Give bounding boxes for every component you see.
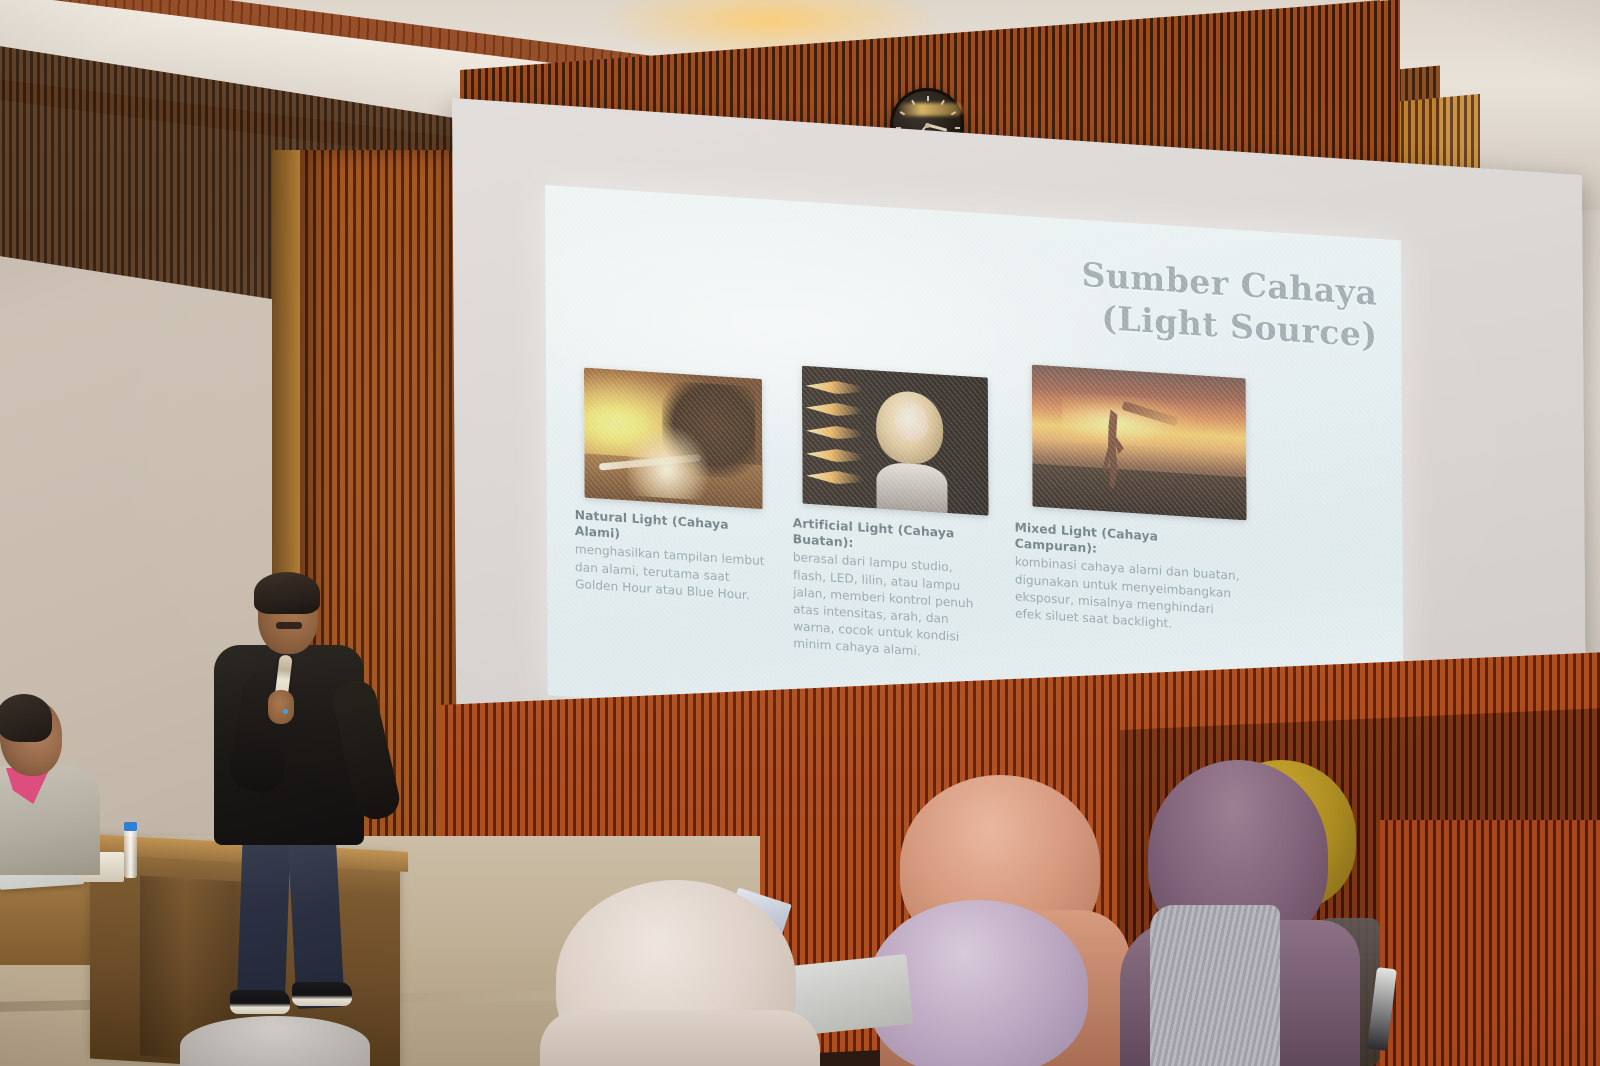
presenter-hair [254,572,320,614]
lecture-hall-photo: Sumber Cahaya (Light Source) Natural Lig… [0,0,1600,1066]
water-bottle [124,828,137,878]
projected-slide: Sumber Cahaya (Light Source) Natural Lig… [545,185,1404,751]
slide-title: Sumber Cahaya (Light Source) [1081,254,1377,358]
column-body: menghasilkan tampilan lembut dan alami, … [575,541,771,605]
column-mixed-light: Mixed Light (Cahaya Campuran): kombinasi… [1015,519,1244,637]
clock-glare [899,103,963,116]
clock-center [925,123,930,128]
mixed-light-photo [1032,364,1247,520]
right-slat-wall [1380,820,1600,1066]
column-natural-light: Natural Light (Cahaya Alami) menghasilka… [575,507,771,606]
presenter-mustache [276,622,302,629]
attendee-cream-body [540,1010,820,1066]
column-body: berasal dari lampu studio, flash, LED, l… [793,549,990,665]
column-artificial-light: Artificial Light (Cahaya Buatan): berasa… [793,515,990,665]
seated-attendee-hair [0,694,52,742]
bottle-cap [124,822,137,831]
presenter-legs [234,818,364,1008]
natural-light-photo [584,368,763,510]
attendee-grey-scarf [1150,905,1280,1066]
column-body: kombinasi cahaya alami dan buatan, digun… [1015,554,1243,637]
microphone-led [283,709,288,714]
presenter-shoe-right [292,982,352,1006]
presenter-shoe-left [230,990,290,1014]
artificial-light-photo [802,366,989,516]
presenter-hand [268,690,294,724]
